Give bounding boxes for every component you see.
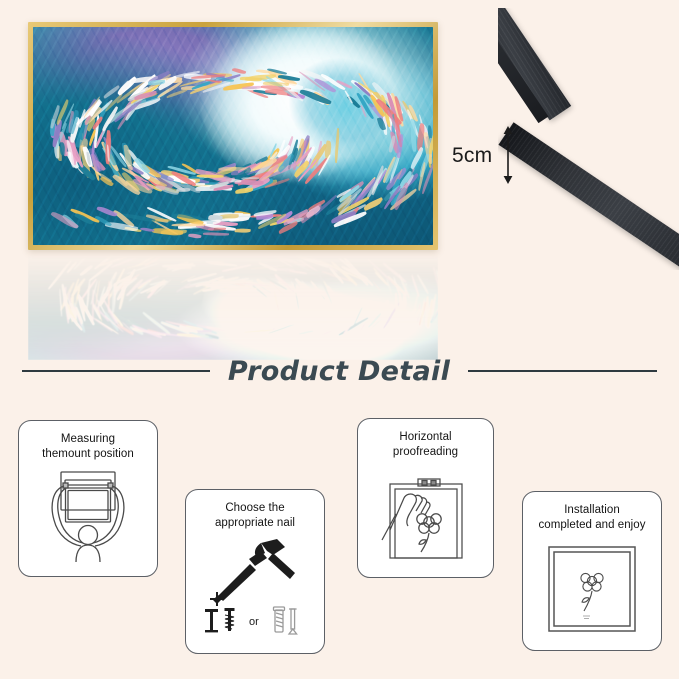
product-detail-page: 5cm Product Detail Measuring themount po… — [0, 0, 679, 679]
hung-framed-picture-icon — [543, 541, 641, 637]
framed-artwork — [28, 22, 438, 250]
double-headed-vertical-arrow-icon — [501, 126, 515, 184]
instruction-card-art — [531, 537, 653, 640]
fish-stroke — [242, 85, 262, 88]
instruction-card-art: or — [194, 535, 316, 643]
fish-stroke — [171, 222, 206, 226]
measurement-label: 5cm — [452, 145, 492, 166]
instruction-card-title: Installation completed and enjoy — [538, 503, 645, 533]
instruction-card-proofreading[interactable]: Horizontal proofreading — [357, 418, 494, 578]
artwork-canvas — [33, 27, 433, 245]
instruction-card-choose-nail[interactable]: Choose the appropriate nail — [185, 489, 325, 654]
title-rule-right — [468, 370, 657, 372]
instruction-card-title: Measuring themount position — [42, 432, 134, 462]
section-header: Product Detail — [0, 352, 679, 390]
depth-measurement: 5cm — [452, 126, 515, 184]
artwork-reflection — [28, 252, 438, 360]
hand-leveling-frame-icon — [374, 470, 478, 562]
frame-lower-rail — [498, 122, 679, 270]
instruction-card-art — [366, 464, 485, 567]
black-frame-corner-sample — [498, 8, 679, 270]
nail-separator-label: or — [249, 616, 259, 628]
title-rule-left — [22, 370, 210, 372]
instruction-card-title: Horizontal proofreading — [393, 430, 458, 460]
instruction-card-measuring[interactable]: Measuring themount position — [18, 420, 158, 577]
page-title: Product Detail — [228, 356, 450, 387]
instruction-card-title: Choose the appropriate nail — [215, 501, 295, 531]
instruction-card-completed[interactable]: Installation completed and enjoy — [522, 491, 662, 651]
instruction-card-art — [27, 466, 149, 566]
person-holding-frame-icon — [36, 468, 140, 564]
hammer-and-nails-icon: or — [199, 537, 311, 641]
